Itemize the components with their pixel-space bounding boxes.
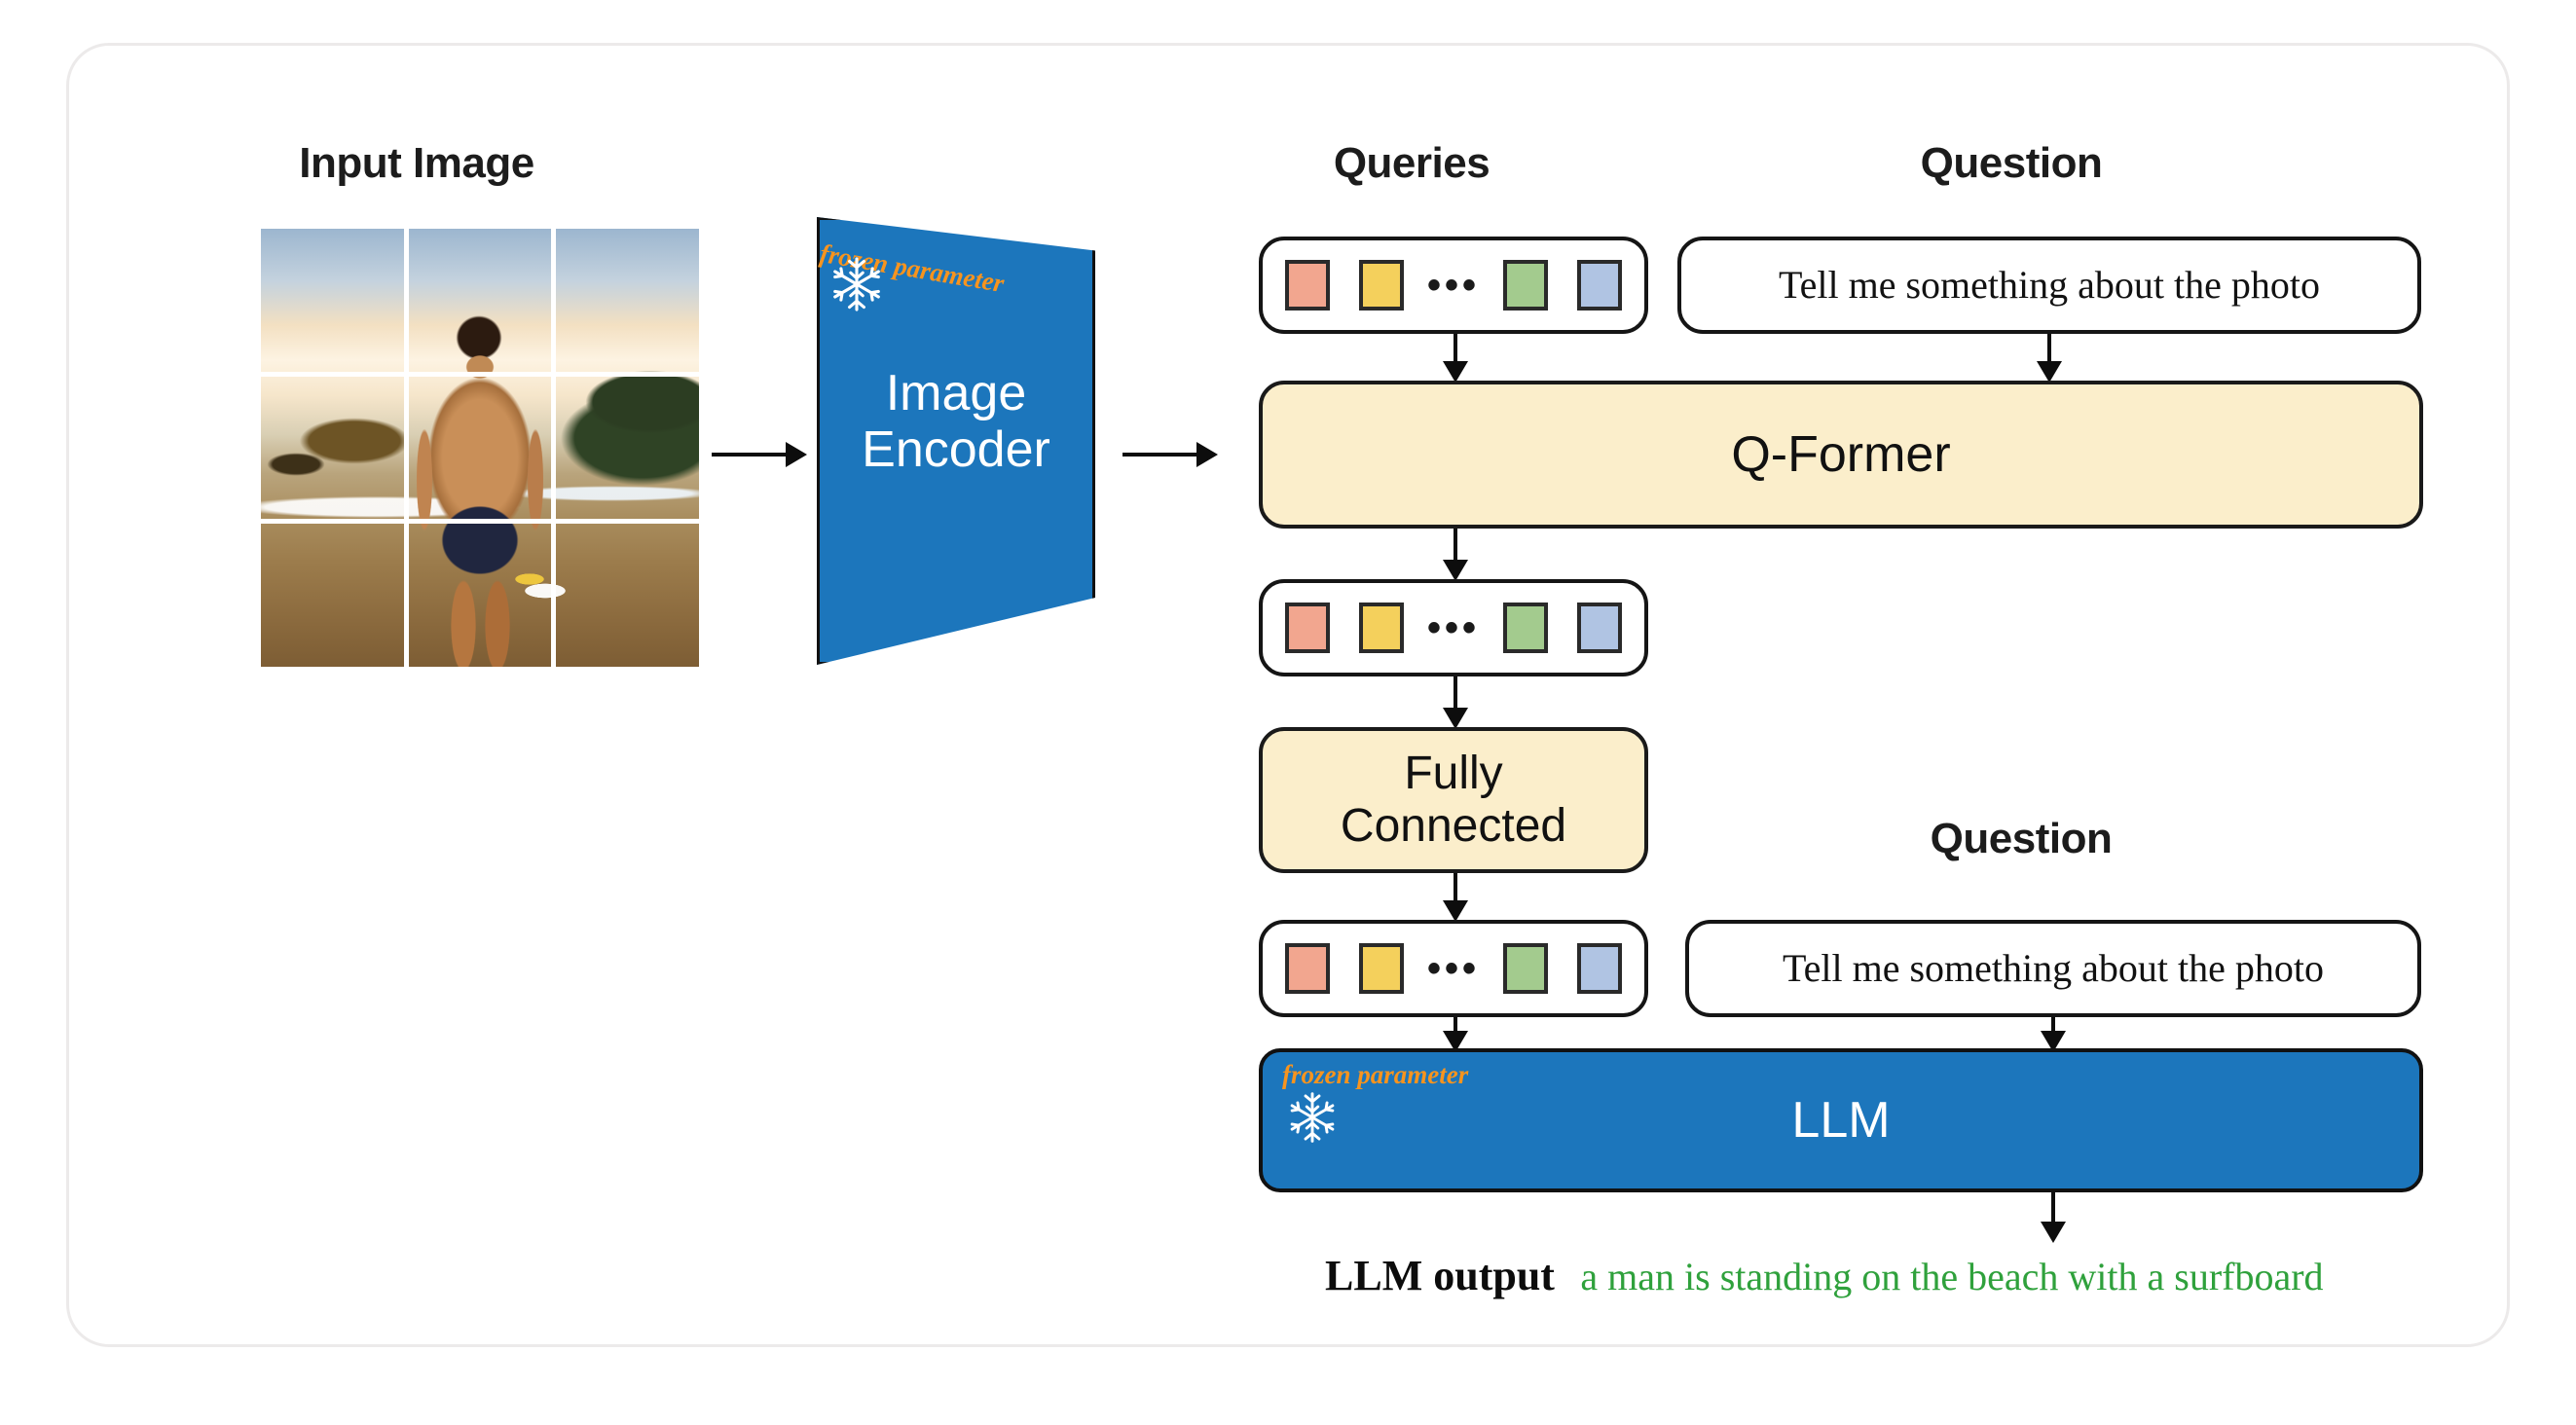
query-token-green bbox=[1503, 260, 1548, 311]
question-text-top: Tell me something about the photo bbox=[1779, 266, 2320, 305]
input-image-grid bbox=[261, 229, 699, 667]
arrow-encoder-to-qformer bbox=[1122, 440, 1218, 469]
query-token-blue bbox=[1577, 943, 1622, 994]
arrow-question-to-llm bbox=[2039, 1017, 2068, 1052]
arrow-queries-to-llm bbox=[1441, 1017, 1470, 1052]
qformer-block: Q-Former bbox=[1259, 381, 2423, 529]
input-image-heading: Input Image bbox=[198, 139, 636, 188]
image-tile bbox=[409, 229, 552, 372]
query-token-salmon bbox=[1285, 603, 1330, 653]
question-text-bottom: Tell me something about the photo bbox=[1783, 949, 2324, 988]
query-token-salmon bbox=[1285, 943, 1330, 994]
image-encoder-block: frozen parameter Image Encoder bbox=[817, 217, 1095, 665]
question-box-top[interactable]: Tell me something about the photo bbox=[1677, 237, 2421, 334]
query-token-yellow bbox=[1359, 603, 1404, 653]
question-top-heading: Question bbox=[1792, 139, 2230, 188]
image-tile bbox=[556, 524, 699, 667]
query-token-green bbox=[1503, 603, 1548, 653]
fully-connected-block: Fully Connected bbox=[1259, 727, 1648, 873]
snowflake-icon bbox=[827, 254, 887, 314]
arrow-image-to-encoder bbox=[712, 440, 807, 469]
qformer-label: Q-Former bbox=[1731, 425, 1950, 484]
image-tile bbox=[556, 377, 699, 520]
queries-heading: Queries bbox=[1193, 139, 1631, 188]
arrow-qformer-to-queries bbox=[1441, 529, 1470, 581]
arrow-queries-to-fc bbox=[1441, 676, 1470, 729]
question-box-bottom[interactable]: Tell me something about the photo bbox=[1685, 920, 2421, 1017]
image-encoder-label: Image Encoder bbox=[817, 365, 1095, 478]
llm-output-label: LLM output bbox=[1325, 1252, 1555, 1299]
arrow-llm-to-output bbox=[2039, 1192, 2068, 1243]
image-tile bbox=[556, 229, 699, 372]
image-tile bbox=[261, 524, 404, 667]
query-token-blue bbox=[1577, 603, 1622, 653]
queries-strip-bottom: ••• bbox=[1259, 920, 1648, 1017]
query-token-blue bbox=[1577, 260, 1622, 311]
arrow-question-to-qformer bbox=[2035, 334, 2064, 383]
llm-block: frozen parameter LLM bbox=[1259, 1048, 2423, 1192]
query-token-green bbox=[1503, 943, 1548, 994]
query-token-salmon bbox=[1285, 260, 1330, 311]
question-bottom-heading: Question bbox=[1802, 815, 2240, 863]
query-ellipsis: ••• bbox=[1427, 620, 1480, 636]
llm-label: LLM bbox=[1263, 1095, 2419, 1146]
llm-output-row: LLM output a man is standing on the beac… bbox=[1325, 1251, 2324, 1300]
queries-strip-middle: ••• bbox=[1259, 579, 1648, 676]
llm-output-text: a man is standing on the beach with a su… bbox=[1580, 1255, 2323, 1298]
query-ellipsis: ••• bbox=[1427, 277, 1480, 293]
image-tile bbox=[409, 377, 552, 520]
query-ellipsis: ••• bbox=[1427, 961, 1480, 976]
llm-frozen-label: frozen parameter bbox=[1282, 1060, 1468, 1090]
image-tile bbox=[409, 524, 552, 667]
fully-connected-label: Fully Connected bbox=[1341, 748, 1566, 853]
queries-strip-top: ••• bbox=[1259, 237, 1648, 334]
image-tile bbox=[261, 229, 404, 372]
query-token-yellow bbox=[1359, 260, 1404, 311]
arrow-fc-to-queries bbox=[1441, 873, 1470, 922]
query-token-yellow bbox=[1359, 943, 1404, 994]
image-tile bbox=[261, 377, 404, 520]
arrow-queries-to-qformer bbox=[1441, 334, 1470, 383]
figure-card: Input Image Queries Question Question fr… bbox=[66, 43, 2510, 1347]
